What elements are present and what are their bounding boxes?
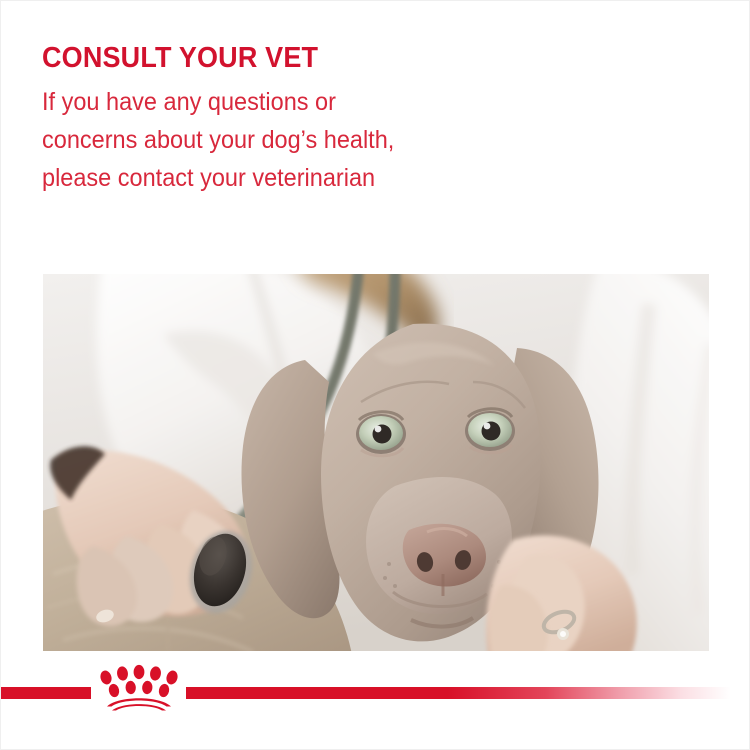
brand-bar-left xyxy=(1,687,91,699)
royal-canin-crown-logo xyxy=(94,661,184,711)
text-block: CONSULT YOUR VET If you have any questio… xyxy=(42,41,642,197)
photo-illustration xyxy=(43,274,709,651)
vet-examining-dog-photo xyxy=(43,274,709,651)
subcopy-line-1: If you have any questions or xyxy=(42,83,606,121)
crown-logo-mark xyxy=(94,661,184,711)
consult-your-vet-card: CONSULT YOUR VET If you have any questio… xyxy=(0,0,750,750)
page-title: CONSULT YOUR VET xyxy=(42,41,600,75)
brand-bar-right xyxy=(186,687,731,699)
brand-footer xyxy=(1,656,750,750)
subcopy: If you have any questions or concerns ab… xyxy=(42,83,606,197)
subcopy-line-3: please contact your veterinarian xyxy=(42,159,606,197)
subcopy-line-2: concerns about your dog’s health, xyxy=(42,121,606,159)
